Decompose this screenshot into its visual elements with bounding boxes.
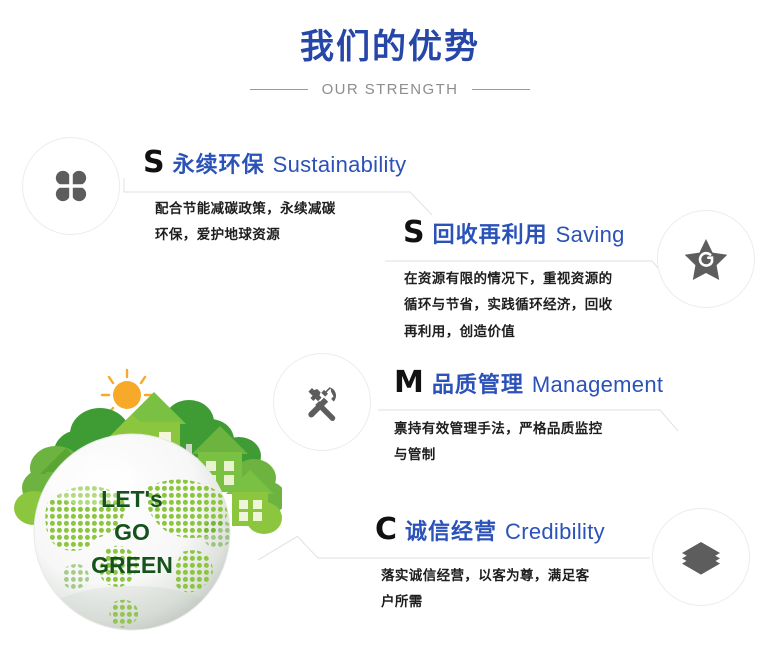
item-title-en: Credibility: [505, 521, 605, 543]
section-header: 我们的优势 OUR STRENGTH: [0, 0, 780, 98]
icon-circle-sustainability[interactable]: [22, 137, 120, 235]
item-heading: S 回收再利用 Saving: [403, 218, 703, 248]
strength-item-3: M 品质管理 Management 禀持有效管理手法，严格品质监控 与管制: [394, 368, 694, 469]
item-heading: M 品质管理 Management: [394, 368, 694, 398]
item-description: 禀持有效管理手法，严格品质监控 与管制: [394, 416, 694, 469]
item-heading: C 诚信经营 Credibility: [375, 515, 675, 545]
clover-icon: [49, 164, 93, 208]
strength-item-1: S 永续环保 Sustainability 配合节能减碳政策，永续减碳 环保，爱…: [143, 148, 443, 249]
item-letter: S: [143, 148, 165, 178]
section-subtitle: OUR STRENGTH: [0, 81, 780, 98]
item-letter: S: [403, 218, 425, 248]
item-title-cn: 品质管理: [432, 374, 524, 396]
item-heading: S 永续环保 Sustainability: [143, 148, 443, 178]
page-title: 我们的优势: [0, 30, 780, 64]
item-letter: M: [394, 368, 424, 398]
divider-dash-right: [472, 89, 530, 90]
item-title-en: Sustainability: [273, 154, 407, 176]
item-description: 在资源有限的情况下，重视资源的 循环与节省，实践循环经济，回收 再利用，创造价值: [404, 266, 703, 345]
item-description: 落实诚信经营，以客为尊，满足客 户所需: [381, 563, 675, 616]
item-title-cn: 回收再利用: [433, 224, 548, 246]
slogan-line-3: GREEN: [91, 552, 173, 578]
strength-item-4: C 诚信经营 Credibility 落实诚信经营，以客为尊，满足客 户所需: [375, 515, 675, 616]
slogan-line-2: GO: [114, 519, 150, 545]
item-description: 配合节能减碳政策，永续减碳 环保，爱护地球资源: [155, 196, 443, 249]
icon-circle-management[interactable]: [273, 353, 371, 451]
slogan-line-1: LET's: [101, 486, 163, 512]
tools-icon: [300, 380, 344, 424]
strength-item-2: S 回收再利用 Saving 在资源有限的情况下，重视资源的 循环与节省，实践循…: [403, 218, 703, 345]
green-earth-illustration: LET's GO GREEN: [14, 352, 282, 652]
item-title-en: Management: [532, 374, 663, 396]
layers-icon: [679, 535, 723, 579]
item-title-cn: 诚信经营: [405, 521, 497, 543]
strength-section: 我们的优势 OUR STRENGTH: [0, 0, 780, 670]
subtitle-label: OUR STRENGTH: [322, 81, 459, 98]
item-title-en: Saving: [556, 224, 625, 246]
item-letter: C: [375, 515, 397, 545]
divider-dash-left: [250, 89, 308, 90]
item-title-cn: 永续环保: [173, 154, 265, 176]
